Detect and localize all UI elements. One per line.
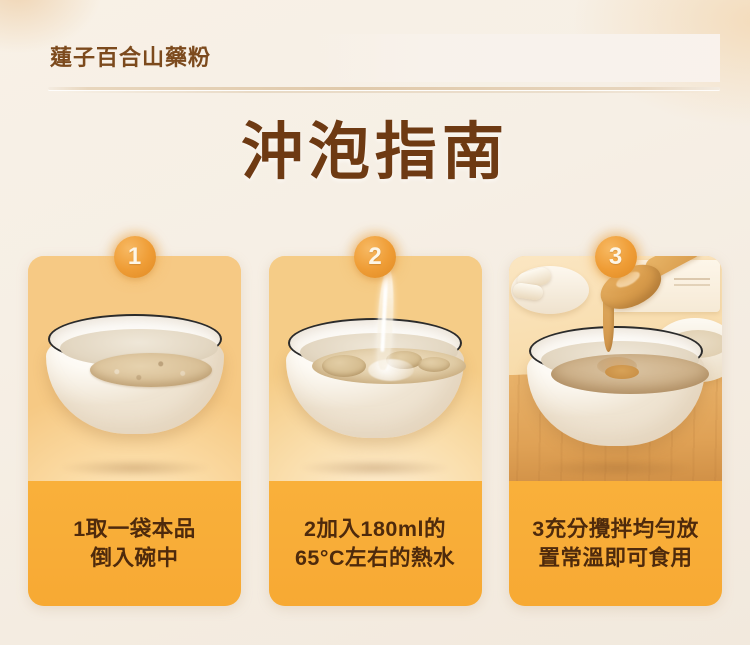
step-caption-text: 2加入180ml的 65°C左右的熱水 <box>289 515 461 573</box>
step-badge-1: 1 <box>114 236 156 278</box>
step-card-1: 1 <box>28 256 241 606</box>
header-backdrop-panel <box>300 34 720 82</box>
brewing-guide-page: 蓮子百合山藥粉 沖泡指南 1 <box>0 0 750 645</box>
bowl-with-powder-illustration <box>28 256 241 481</box>
step-caption-text: 1取一袋本品 倒入碗中 <box>67 515 201 573</box>
ceramic-bowl <box>527 320 705 448</box>
page-header: 蓮子百合山藥粉 <box>0 0 750 100</box>
drip-pool <box>605 365 639 379</box>
step-badge-number: 3 <box>609 245 622 269</box>
header-divider-shadow <box>60 91 710 93</box>
step-badge-2: 2 <box>354 236 396 278</box>
step-card-2: 2 <box>269 256 482 606</box>
step-caption-2: 2加入180ml的 65°C左右的熱水 <box>269 481 482 606</box>
bowl-interior <box>60 329 218 367</box>
step-caption-text: 3充分攪拌均勻放 置常溫即可食用 <box>526 515 704 573</box>
powder-mound <box>90 353 212 387</box>
bowl-with-hot-water-illustration <box>269 256 482 481</box>
step-photo-3: ɔ <box>509 256 722 481</box>
bowl-with-paste-illustration: ɔ <box>509 256 722 481</box>
step-card-1-inner: 1取一袋本品 倒入碗中 <box>28 256 241 606</box>
step-caption-3: 3充分攪拌均勻放 置常溫即可食用 <box>509 481 722 606</box>
powder-clump <box>322 355 366 377</box>
step-caption-1: 1取一袋本品 倒入碗中 <box>28 481 241 606</box>
step-card-2-inner: 2加入180ml的 65°C左右的熱水 <box>269 256 482 606</box>
bowl-rim <box>288 318 462 368</box>
bowl-shadow <box>541 459 691 477</box>
powder-clump <box>418 357 450 372</box>
bowl-shadow <box>300 459 450 477</box>
bowl-interior <box>541 341 699 379</box>
step-photo-2 <box>269 256 482 481</box>
bowl-rim <box>529 326 703 376</box>
page-title: 沖泡指南 <box>0 120 750 185</box>
product-title: 蓮子百合山藥粉 <box>50 47 211 69</box>
bowl-rim <box>48 314 222 364</box>
step-badge-3: 3 <box>595 236 637 278</box>
water-foam <box>368 359 414 381</box>
step-card-3-inner: ɔ <box>509 256 722 606</box>
step-badge-number: 2 <box>368 245 381 269</box>
steps-container: 1 <box>28 256 722 608</box>
step-badge-number: 1 <box>128 245 141 269</box>
ceramic-bowl <box>46 308 224 436</box>
step-card-3: 3 ɔ <box>509 256 722 606</box>
side-plate <box>511 266 589 314</box>
header-divider <box>48 87 720 90</box>
bowl-shadow <box>60 459 210 477</box>
step-photo-1 <box>28 256 241 481</box>
ceramic-bowl <box>286 312 464 440</box>
